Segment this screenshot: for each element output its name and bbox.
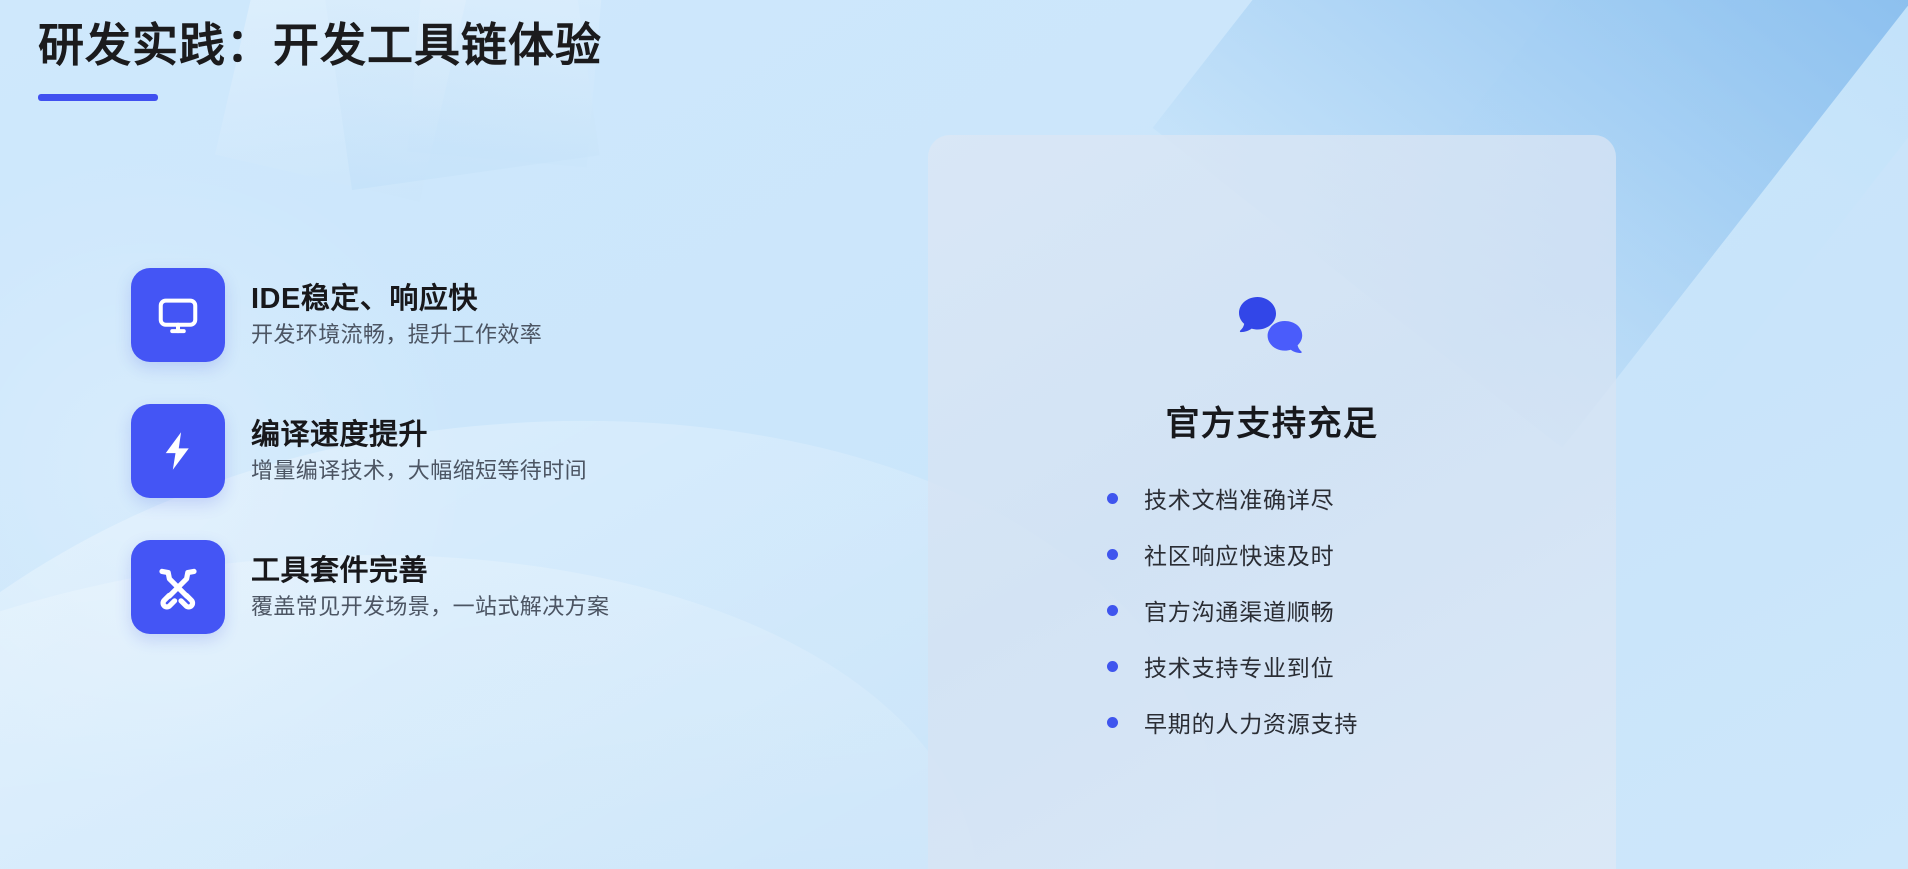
slide-header: 研发实践：开发工具链体验: [38, 14, 602, 101]
list-item-label: 早期的人力资源支持: [1144, 705, 1358, 739]
page-title: 研发实践：开发工具链体验: [38, 14, 602, 76]
title-underline-rule: [38, 94, 158, 101]
bullet-dot-icon: [1107, 717, 1118, 728]
list-item-label: 社区响应快速及时: [1144, 537, 1334, 571]
feature-title: 编译速度提升: [251, 418, 587, 452]
list-item: 早期的人力资源支持: [1107, 705, 1437, 739]
support-card-title: 官方支持充足: [1166, 396, 1379, 445]
support-card-content: 官方支持充足 技术文档准确详尽 社区响应快速及时 官方沟通渠道顺畅 技术支持专业…: [928, 295, 1616, 739]
list-item: 官方沟通渠道顺畅: [1107, 593, 1437, 627]
feature-title: IDE稳定、响应快: [251, 282, 542, 316]
list-item: 社区响应快速及时: [1107, 537, 1437, 571]
chat-bubbles-icon: [1235, 295, 1309, 370]
slide-root: 研发实践：开发工具链体验 IDE稳定、响应快 开发环境流畅，提升工作效率: [0, 0, 1908, 869]
feature-text: IDE稳定、响应快 开发环境流畅，提升工作效率: [251, 282, 542, 349]
list-item: 技术文档准确详尽: [1107, 481, 1437, 515]
feature-item-ide[interactable]: IDE稳定、响应快 开发环境流畅，提升工作效率: [131, 268, 609, 362]
feature-item-compile-speed[interactable]: 编译速度提升 增量编译技术，大幅缩短等待时间: [131, 404, 609, 498]
lightning-bolt-icon: [131, 404, 225, 498]
feature-text: 工具套件完善 覆盖常见开发场景，一站式解决方案: [251, 554, 609, 621]
support-point-list: 技术文档准确详尽 社区响应快速及时 官方沟通渠道顺畅 技术支持专业到位 早期的人…: [1107, 481, 1437, 739]
feature-description: 开发环境流畅，提升工作效率: [251, 322, 542, 348]
bullet-dot-icon: [1107, 605, 1118, 616]
list-item: 技术支持专业到位: [1107, 649, 1437, 683]
feature-text: 编译速度提升 增量编译技术，大幅缩短等待时间: [251, 418, 587, 485]
feature-description: 覆盖常见开发场景，一站式解决方案: [251, 594, 609, 620]
bullet-dot-icon: [1107, 549, 1118, 560]
feature-title: 工具套件完善: [251, 554, 609, 588]
feature-description: 增量编译技术，大幅缩短等待时间: [251, 458, 587, 484]
list-item-label: 技术支持专业到位: [1144, 649, 1334, 683]
bullet-dot-icon: [1107, 493, 1118, 504]
list-item-label: 官方沟通渠道顺畅: [1144, 593, 1334, 627]
support-card: 官方支持充足 技术文档准确详尽 社区响应快速及时 官方沟通渠道顺畅 技术支持专业…: [928, 135, 1616, 869]
feature-list: IDE稳定、响应快 开发环境流畅，提升工作效率 编译速度提升 增量编译技术，大幅…: [131, 268, 609, 634]
tools-icon: [131, 540, 225, 634]
list-item-label: 技术文档准确详尽: [1144, 481, 1334, 515]
feature-item-toolkit[interactable]: 工具套件完善 覆盖常见开发场景，一站式解决方案: [131, 540, 609, 634]
bullet-dot-icon: [1107, 661, 1118, 672]
monitor-icon: [131, 268, 225, 362]
